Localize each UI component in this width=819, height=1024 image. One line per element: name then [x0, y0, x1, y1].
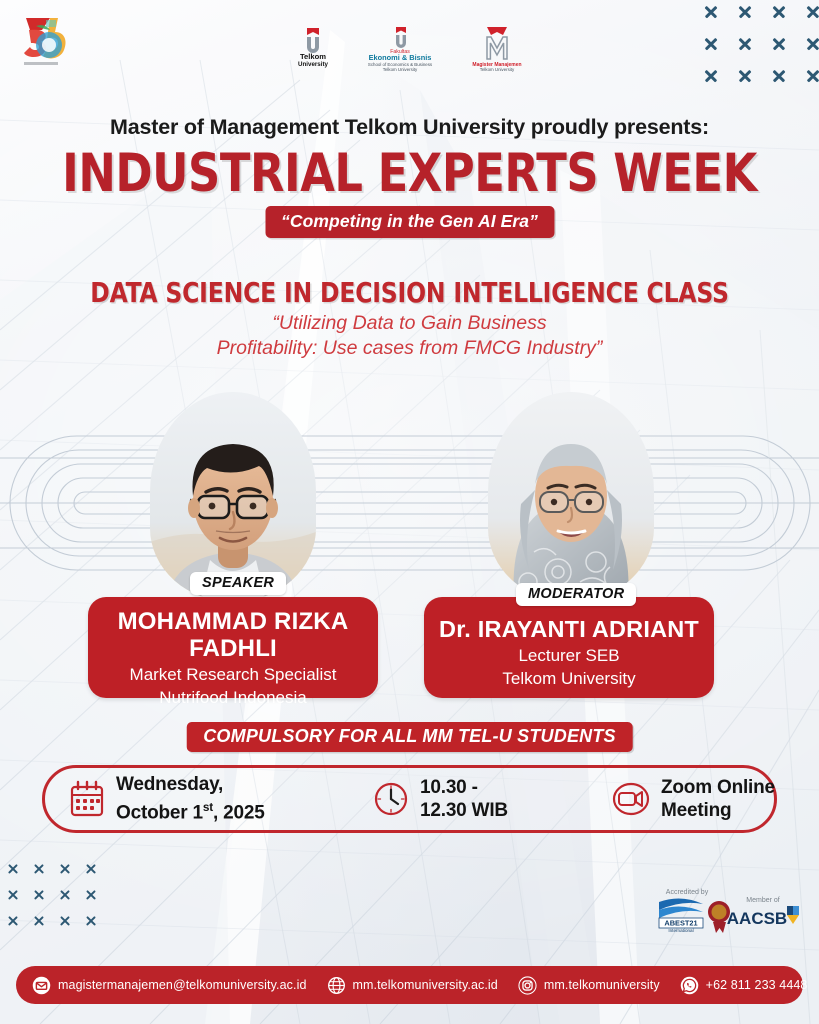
detail-place: Zoom Online Meeting — [586, 776, 781, 822]
svg-text:Ekonomi & Bisnis: Ekonomi & Bisnis — [368, 53, 431, 62]
x-mark-icon — [28, 858, 50, 880]
class-subtitle: “Utilizing Data to Gain Business Profita… — [0, 311, 819, 361]
x-mark-icon — [765, 0, 793, 26]
class-title: DATA SCIENCE IN DECISION INTELLIGENCE CL… — [20, 277, 798, 309]
speaker-role-tag: SPEAKER — [190, 572, 286, 595]
moderator-name-card: Dr. IRAYANTI ADRIANT Lecturer SEB Telkom… — [424, 597, 714, 698]
x-mark-icon — [28, 884, 50, 906]
globe-icon — [327, 976, 346, 995]
compulsory-badge: COMPULSORY FOR ALL MM TEL-U STUDENTS — [186, 722, 633, 752]
detail-time: 10.30 - 12.30 WIB — [347, 776, 586, 822]
detail-place-line-1: Zoom Online — [661, 776, 775, 799]
x-mark-icon — [799, 0, 819, 26]
x-mark-icon — [80, 858, 102, 880]
video-camera-icon — [612, 782, 650, 816]
footer-instagram-text: mm.telkomuniversity — [544, 978, 660, 992]
footer-email[interactable]: magistermanajemen@telkomuniversity.ac.id — [32, 976, 307, 995]
x-mark-icon — [80, 884, 102, 906]
moderator-role-tag: MODERATOR — [516, 583, 636, 606]
x-mark-icon — [731, 0, 759, 26]
footer-instagram[interactable]: mm.telkomuniversity — [518, 976, 660, 995]
telkom-university-logo: Telkom University — [296, 26, 330, 70]
event-poster: Telkom University Fakultas Ekonomi & Bis… — [0, 0, 819, 1024]
x-mark-icon — [2, 884, 24, 906]
moderator-affiliation-line-2: Telkom University — [424, 666, 714, 689]
clock-icon — [373, 781, 409, 817]
decorative-rounded-rings — [0, 408, 819, 598]
svg-text:Telkom: Telkom — [299, 52, 325, 61]
class-subtitle-line-1: “Utilizing Data to Gain Business — [0, 311, 819, 336]
detail-date-month-day: October 1 — [116, 803, 203, 824]
member-of-label: Member of — [746, 897, 780, 904]
speaker-name-card: MOHAMMAD RIZKA FADHLI Market Research Sp… — [88, 597, 378, 698]
x-mark-icon — [28, 910, 50, 932]
x-mark-icon — [697, 0, 725, 26]
footer-whatsapp[interactable]: +62 811 233 4448 — [680, 976, 808, 995]
detail-date-ordinal: st — [203, 801, 213, 814]
footer-email-text: magistermanajemen@telkomuniversity.ac.id — [58, 978, 307, 992]
x-mark-icon — [2, 858, 24, 880]
x-mark-icon — [54, 884, 76, 906]
x-pattern-bottom-left — [2, 858, 106, 936]
detail-date-text: Wednesday, October 1st, 2025 — [116, 773, 265, 824]
x-mark-icon — [54, 910, 76, 932]
svg-text:ABEST21: ABEST21 — [664, 919, 697, 928]
presents-line: Master of Management Telkom University p… — [0, 115, 819, 140]
detail-date: Wednesday, October 1st, 2025 — [45, 773, 347, 824]
svg-text:International: International — [668, 928, 693, 933]
whatsapp-icon — [680, 976, 699, 995]
x-mark-icon — [2, 910, 24, 932]
moderator-affiliation-line-1: Lecturer SEB — [424, 643, 714, 666]
moderator-photo — [488, 392, 654, 602]
detail-time-line-2: 12.30 WIB — [420, 799, 508, 822]
page-title: INDUSTRIAL EXPERTS WEEK — [25, 146, 795, 202]
speaker-affiliation-line-2: Nutrifood Indonesia — [88, 685, 378, 708]
speaker-name-line-2: FADHLI — [88, 635, 378, 662]
speaker-name-line-1: MOHAMMAD RIZKA — [88, 597, 378, 635]
accredited-by-label: Accredited by — [666, 889, 709, 896]
detail-place-text: Zoom Online Meeting — [661, 776, 775, 822]
calendar-icon — [69, 780, 105, 818]
detail-time-line-1: 10.30 - — [420, 776, 508, 799]
footer-website-text: mm.telkomuniversity.ac.id — [353, 978, 498, 992]
svg-text:University: University — [298, 61, 328, 68]
tagline-badge: “Competing in the Gen AI Era” — [265, 206, 554, 238]
fakultas-ekonomi-bisnis-logo: Fakultas Ekonomi & Bisnis School of Econ… — [356, 26, 444, 72]
detail-date-line-1: Wednesday, — [116, 773, 265, 796]
speaker-photo — [150, 392, 316, 602]
footer-contact-bar: magistermanajemen@telkomuniversity.ac.id… — [16, 966, 803, 1004]
speaker-affiliation-line-1: Market Research Specialist — [88, 662, 378, 685]
svg-text:Telkom University: Telkom University — [479, 67, 514, 72]
detail-place-line-2: Meeting — [661, 799, 775, 822]
accreditation-logos: Accredited by ABEST21 International Memb… — [651, 884, 801, 936]
event-details-bar: Wednesday, October 1st, 2025 10.30 - 12.… — [42, 765, 777, 833]
class-subtitle-line-2: Profitability: Use cases from FMCG Indus… — [0, 336, 819, 361]
x-mark-icon — [80, 910, 102, 932]
detail-date-year: , 2025 — [213, 803, 265, 824]
footer-website[interactable]: mm.telkomuniversity.ac.id — [327, 976, 498, 995]
x-mark-icon — [54, 858, 76, 880]
footer-whatsapp-text: +62 811 233 4448 — [706, 978, 808, 992]
detail-time-text: 10.30 - 12.30 WIB — [420, 776, 508, 822]
magister-manajemen-logo: Magister Manajemen Telkom University — [470, 26, 524, 72]
envelope-icon — [32, 976, 51, 995]
aacsb-wordmark: AACSB — [727, 909, 787, 928]
institution-logo-row: Telkom University Fakultas Ekonomi & Bis… — [0, 26, 819, 72]
svg-text:Telkom University: Telkom University — [382, 67, 417, 72]
detail-date-line-2: October 1st, 2025 — [116, 796, 265, 824]
instagram-icon — [518, 976, 537, 995]
